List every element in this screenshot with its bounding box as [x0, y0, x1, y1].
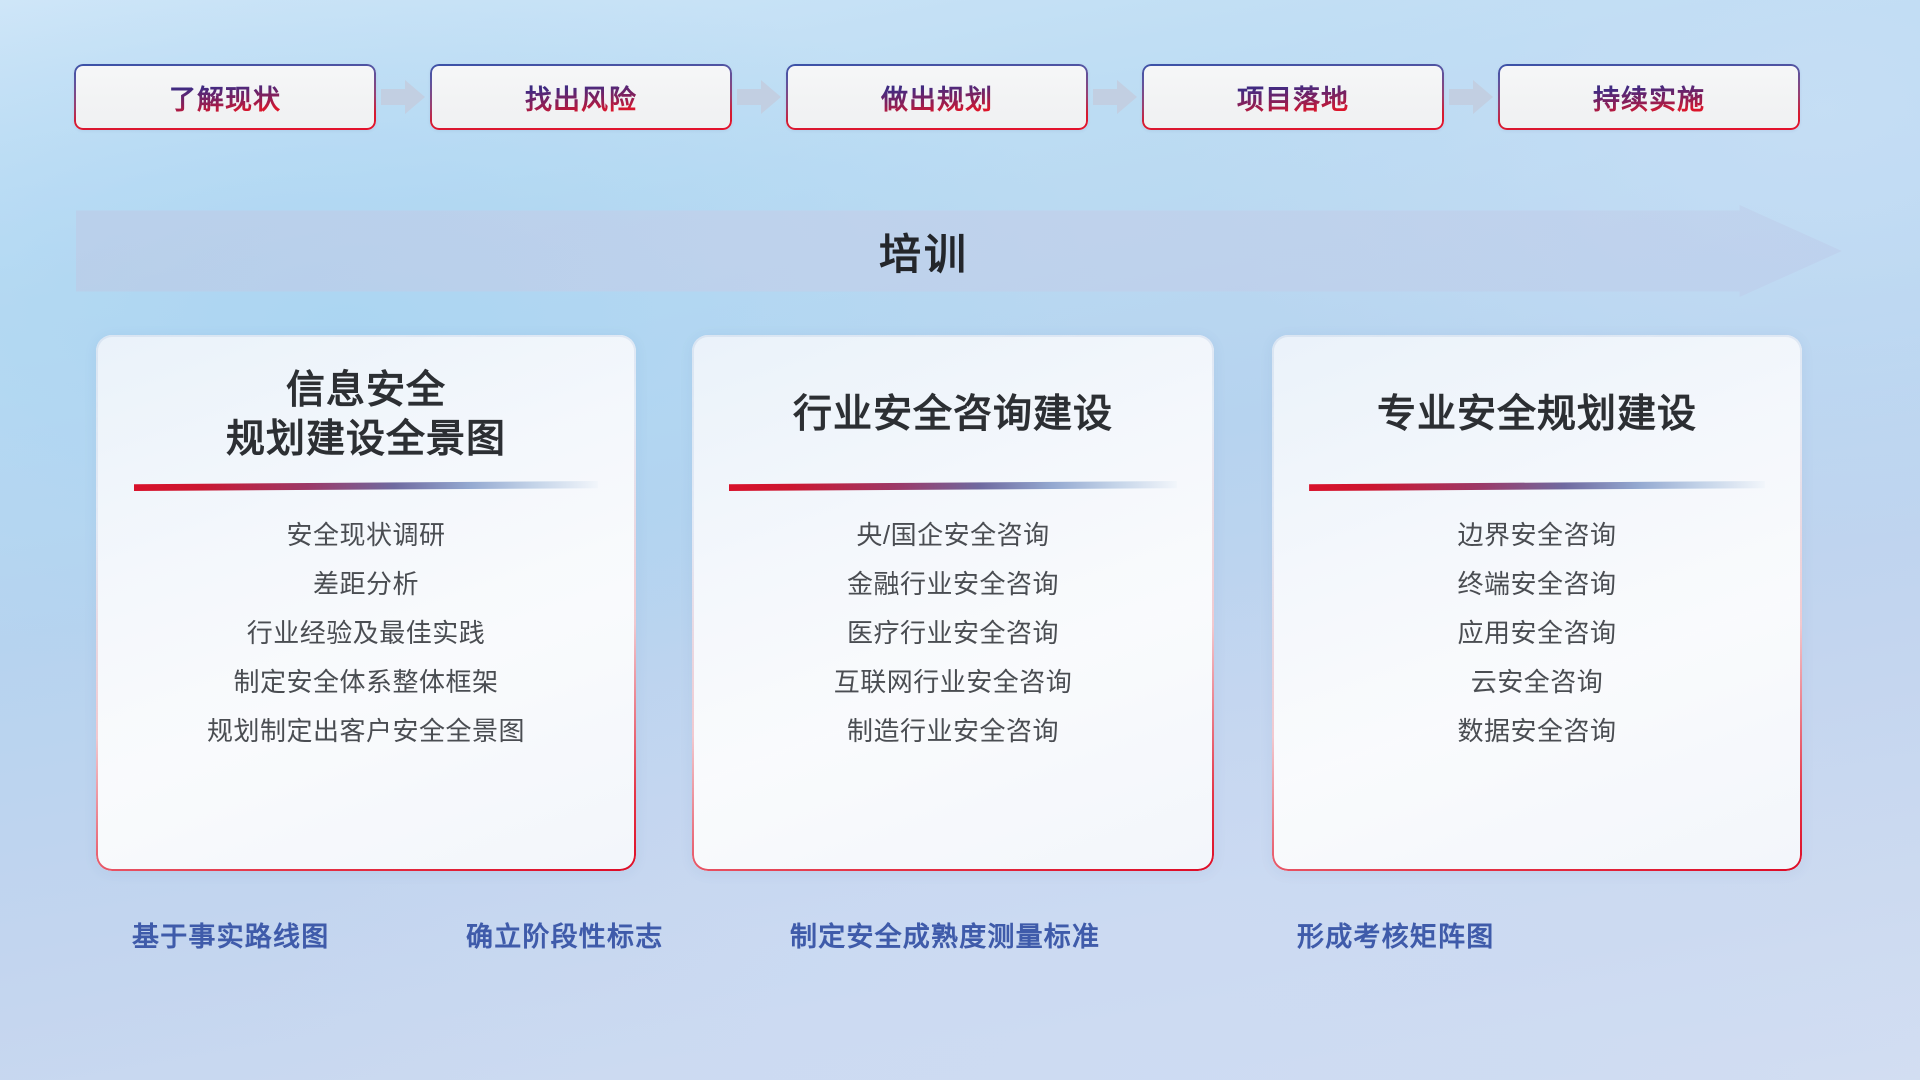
right-arrow-icon — [376, 78, 430, 116]
list-item: 应用安全咨询 — [1457, 613, 1616, 654]
slide-canvas: 了解现状 找出风险 做出规划 项目落地 — [0, 0, 1920, 1080]
card-3[interactable]: 专业安全规划建设 边界安全咨询 终端安全咨询 应用安全咨询 云安全咨询 数据安全… — [1272, 335, 1802, 871]
list-item: 金融行业安全咨询 — [847, 564, 1059, 605]
step-box-1[interactable]: 了解现状 — [74, 64, 376, 130]
list-item: 制定安全体系整体框架 — [233, 662, 498, 703]
card-1-title-line1: 信息安全 — [286, 369, 446, 412]
bottom-label-3: 制定安全成熟度测量标准 — [790, 915, 1100, 954]
card-2-list: 央/国企安全咨询 金融行业安全咨询 医疗行业安全咨询 互联网行业安全咨询 制造行… — [692, 515, 1214, 752]
step-box-2[interactable]: 找出风险 — [430, 64, 732, 130]
bottom-label-2: 确立阶段性标志 — [466, 915, 663, 954]
card-1-divider — [134, 481, 598, 491]
right-arrow-icon — [1088, 78, 1142, 116]
card-3-list: 边界安全咨询 终端安全咨询 应用安全咨询 云安全咨询 数据安全咨询 — [1272, 515, 1802, 752]
list-item: 央/国企安全咨询 — [856, 515, 1049, 556]
list-item: 行业经验及最佳实践 — [247, 613, 486, 654]
card-1[interactable]: 信息安全 规划建设全景图 安全现状调研 差距分析 行业经验及最佳实践 制定安全体… — [96, 335, 636, 871]
list-item: 边界安全咨询 — [1457, 515, 1616, 556]
cards-row: 信息安全 规划建设全景图 安全现状调研 差距分析 行业经验及最佳实践 制定安全体… — [0, 335, 1920, 875]
bottom-labels-row: 基于事实路线图 确立阶段性标志 制定安全成熟度测量标准 形成考核矩阵图 — [0, 915, 1920, 965]
list-item: 互联网行业安全咨询 — [834, 662, 1073, 703]
bottom-label-4: 形成考核矩阵图 — [1297, 915, 1494, 954]
step-label-4: 项目落地 — [1237, 78, 1349, 117]
list-item: 终端安全咨询 — [1457, 564, 1616, 605]
list-item: 医疗行业安全咨询 — [847, 613, 1059, 654]
right-arrow-icon — [1444, 78, 1498, 116]
step-label-5: 持续实施 — [1593, 78, 1705, 117]
step-box-4[interactable]: 项目落地 — [1142, 64, 1444, 130]
step-label-1: 了解现状 — [169, 78, 281, 117]
process-steps-row: 了解现状 找出风险 做出规划 项目落地 — [0, 62, 1920, 132]
card-2-divider — [729, 481, 1178, 491]
card-1-title: 信息安全 规划建设全景图 — [226, 361, 506, 469]
step-label-3: 做出规划 — [881, 78, 993, 117]
card-1-title-line2: 规划建设全景图 — [226, 418, 506, 461]
card-3-title: 专业安全规划建设 — [1377, 361, 1697, 469]
card-2-title: 行业安全咨询建设 — [793, 361, 1113, 469]
step-label-2: 找出风险 — [525, 78, 637, 117]
step-box-5[interactable]: 持续实施 — [1498, 64, 1800, 130]
list-item: 规划制定出客户安全全景图 — [207, 711, 525, 752]
right-arrow-icon — [732, 78, 786, 116]
card-3-divider — [1309, 481, 1765, 491]
training-banner: 培训 — [76, 205, 1842, 297]
bottom-label-1: 基于事实路线图 — [132, 915, 329, 954]
list-item: 安全现状调研 — [286, 515, 445, 556]
list-item: 制造行业安全咨询 — [847, 711, 1059, 752]
card-2[interactable]: 行业安全咨询建设 央/国企安全咨询 金融行业安全咨询 医疗行业安全咨询 互联网行… — [692, 335, 1214, 871]
list-item: 数据安全咨询 — [1457, 711, 1616, 752]
card-1-list: 安全现状调研 差距分析 行业经验及最佳实践 制定安全体系整体框架 规划制定出客户… — [96, 515, 636, 752]
list-item: 差距分析 — [313, 564, 419, 605]
step-box-3[interactable]: 做出规划 — [786, 64, 1088, 130]
banner-title: 培训 — [76, 205, 1772, 297]
list-item: 云安全咨询 — [1471, 662, 1604, 703]
